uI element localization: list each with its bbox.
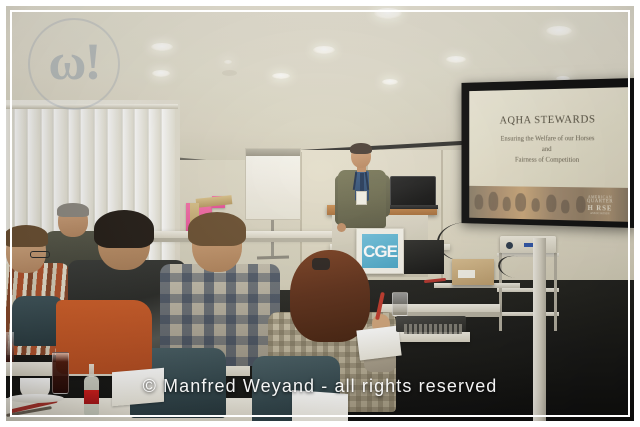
aqha-logo-line4: ASSOCIATION [590, 211, 610, 214]
ceiling-light [224, 60, 232, 64]
ceiling-light [152, 70, 170, 77]
audience-member-plaid-shirt [160, 216, 280, 366]
ceiling-light [382, 79, 398, 85]
ceiling-light [272, 73, 290, 79]
photograph: CGE AQHA STEWARDS Ensuring the Welfare o… [0, 0, 640, 427]
slide-crowd-photo: AMERICAN QUARTER H RSE ASSOCIATION [469, 186, 629, 222]
laptop-screen[interactable] [390, 176, 436, 208]
ceiling-light [151, 43, 173, 51]
ceiling-vent [222, 70, 237, 76]
slide-subtitle-line2: and [501, 144, 595, 155]
coca-cola-bottle [84, 364, 99, 416]
name-card [112, 368, 164, 407]
saucer [8, 394, 64, 403]
flipchart-clip [246, 149, 300, 156]
projector-lens [506, 242, 513, 249]
white-pillar [533, 238, 546, 427]
audience-glasses [30, 251, 50, 258]
conference-room-scene: CGE AQHA STEWARDS Ensuring the Welfare o… [0, 0, 640, 427]
slide-subtitle-line1: Ensuring the Welfare of our Horses [501, 133, 595, 144]
audience-hair [4, 225, 48, 247]
projector [500, 236, 556, 253]
presenter-name-badge [356, 191, 367, 205]
cardboard-box [452, 259, 494, 285]
name-card [292, 390, 348, 427]
projector-indicator [524, 243, 533, 247]
orange-jacket-on-chair [56, 300, 152, 374]
projection-screen: AQHA STEWARDS Ensuring the Welfare of ou… [461, 78, 635, 228]
blinds-rail [0, 104, 178, 109]
slide-title: AQHA STEWARDS [500, 114, 596, 127]
audience-long-hair [290, 250, 370, 342]
laptop-keyboard[interactable] [386, 205, 438, 209]
aqha-logo: AMERICAN QUARTER H RSE ASSOCIATION [574, 190, 626, 219]
ceiling-light [313, 46, 335, 54]
audience-hair [94, 210, 154, 248]
cola-glass-left [0, 332, 14, 362]
projection-screen-surface: AQHA STEWARDS Ensuring the Welfare of ou… [469, 87, 629, 222]
flipchart-easel [245, 148, 301, 220]
cola-glass [52, 352, 69, 394]
notepad [356, 326, 401, 361]
slide-subtitle: Ensuring the Welfare of our Horses and F… [501, 133, 595, 165]
keyboard[interactable] [404, 324, 462, 334]
water-glass [392, 292, 408, 316]
ceiling-light [446, 56, 466, 63]
signal-cable [437, 222, 499, 262]
presenter [335, 145, 393, 240]
slide-text-area: AQHA STEWARDS Ensuring the Welfare of ou… [469, 87, 629, 188]
presentation-slide: AQHA STEWARDS Ensuring the Welfare of ou… [469, 87, 629, 222]
bottle-label [84, 390, 99, 404]
slide-subtitle-line3: Fairness of Competition [501, 155, 595, 166]
flipchart-board [245, 148, 301, 220]
presenter-hand [337, 223, 346, 232]
audience-hair [188, 212, 246, 246]
dark-monitor-back [404, 240, 444, 274]
presenter-hair [350, 143, 372, 154]
box-label [458, 270, 475, 278]
hair-clip [312, 258, 330, 270]
ceiling-light [374, 8, 402, 19]
ceiling-light [546, 26, 572, 36]
